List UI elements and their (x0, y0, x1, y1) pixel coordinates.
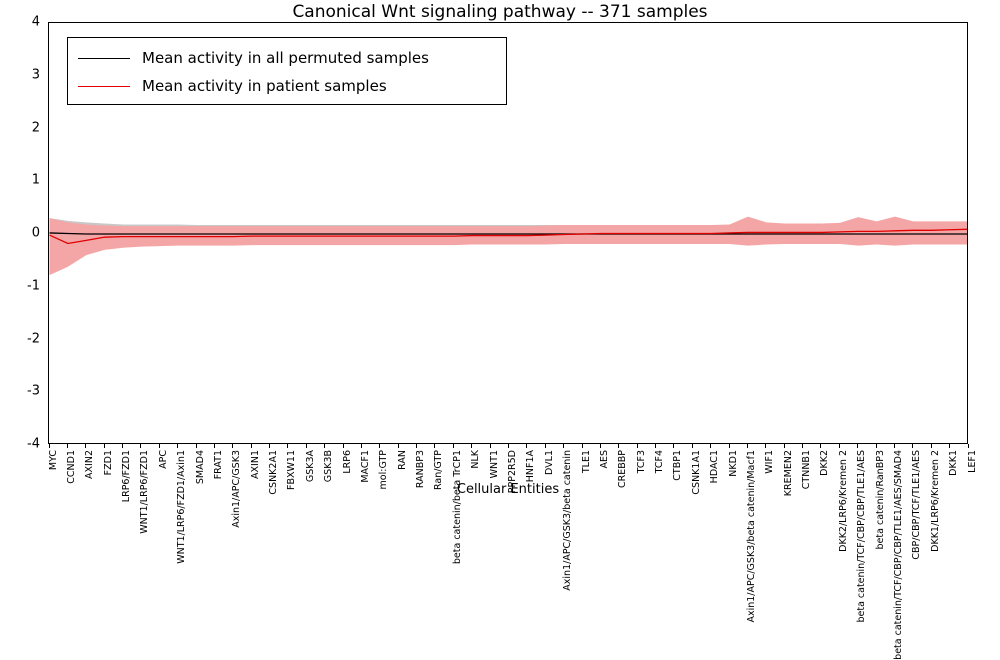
y-tick-label: -2 (27, 331, 40, 346)
x-tick-mark (710, 444, 711, 448)
legend: Mean activity in all permuted samples Me… (67, 37, 507, 105)
x-tick-mark (416, 444, 417, 448)
legend-line-patient-icon (78, 86, 130, 87)
x-tick-label: LRP6 (343, 450, 352, 474)
x-tick-mark (949, 444, 950, 448)
x-tick-mark (563, 444, 564, 448)
x-tick-label: MACF1 (361, 450, 370, 483)
x-tick-mark (379, 444, 380, 448)
x-tick-label: GSK3A (306, 450, 315, 482)
x-tick-mark (104, 444, 105, 448)
x-tick-mark (232, 444, 233, 448)
x-tick-mark (398, 444, 399, 448)
x-tick-mark (67, 444, 68, 448)
x-tick-label: NLK (471, 450, 480, 469)
x-tick-mark (306, 444, 307, 448)
x-tick-label: HNF1A (526, 450, 535, 482)
x-tick-label: HDAC1 (710, 450, 719, 483)
legend-label-patient: Mean activity in patient samples (142, 77, 387, 95)
x-tick-mark (637, 444, 638, 448)
legend-item-permuted: Mean activity in all permuted samples (78, 44, 496, 72)
x-tick-mark (471, 444, 472, 448)
x-tick-label: APC (159, 450, 168, 469)
x-tick-mark (765, 444, 766, 448)
x-tick-mark (453, 444, 454, 448)
x-tick-label: MYC (49, 450, 58, 470)
x-tick-label: WNT1 (490, 450, 499, 478)
plot-area: Mean activity in all permuted samples Me… (48, 22, 968, 444)
chart-figure: Canonical Wnt signaling pathway -- 371 s… (0, 0, 1000, 500)
x-tick-mark (196, 444, 197, 448)
x-tick-label: CCND1 (67, 450, 76, 484)
x-tick-mark (931, 444, 932, 448)
x-tick-mark (361, 444, 362, 448)
x-tick-label: WNT1/LRP6/FZD1 (140, 450, 149, 534)
x-tick-label: CTBP1 (673, 450, 682, 481)
x-tick-mark (140, 444, 141, 448)
x-tick-label: CBP/CBP/TCF/TLE1/AES (912, 450, 921, 560)
x-tick-label: FBXW11 (287, 450, 296, 490)
x-tick-mark (839, 444, 840, 448)
x-tick-mark (287, 444, 288, 448)
x-tick-mark (802, 444, 803, 448)
x-tick-label: PPP2R5D (508, 450, 517, 493)
x-tick-mark (490, 444, 491, 448)
y-tick-label: -1 (27, 278, 40, 293)
x-tick-label: DVL1 (545, 450, 554, 475)
x-tick-label: Ran/GTP (434, 450, 443, 490)
x-tick-label: DKK1 (949, 450, 958, 476)
x-tick-label: KREMEN2 (784, 450, 793, 496)
x-tick-mark (784, 444, 785, 448)
x-tick-mark (968, 444, 969, 448)
x-tick-mark (655, 444, 656, 448)
x-tick-label: beta catenin/TCF/CBP/CBP/TLE1/AES/SMAD4 (894, 450, 903, 660)
x-tick-mark (747, 444, 748, 448)
x-tick-label: Axin1/APC/GSK3/beta catenin (563, 450, 572, 591)
x-tick-mark (894, 444, 895, 448)
x-tick-mark (729, 444, 730, 448)
x-tick-mark (177, 444, 178, 448)
x-tick-mark (122, 444, 123, 448)
x-tick-label: CREBBP (618, 450, 627, 488)
chart-title: Canonical Wnt signaling pathway -- 371 s… (0, 2, 1000, 22)
x-tick-mark (857, 444, 858, 448)
x-axis-ticks: MYCCCND1AXIN2FZD1LRP6/FZD1WNT1/LRP6/FZD1… (48, 444, 968, 500)
legend-line-permuted-icon (78, 58, 130, 59)
x-tick-mark (508, 444, 509, 448)
x-tick-mark (159, 444, 160, 448)
x-tick-label: GSK3B (324, 450, 333, 482)
y-tick-label: -4 (27, 437, 40, 452)
x-tick-label: NKD1 (729, 450, 738, 477)
x-tick-mark (692, 444, 693, 448)
x-tick-label: CTNNB1 (802, 450, 811, 489)
x-tick-mark (324, 444, 325, 448)
x-tick-label: AXIN1 (251, 450, 260, 479)
x-tick-label: TLE1 (582, 450, 591, 473)
x-tick-mark (434, 444, 435, 448)
x-tick-label: mol:GTP (379, 450, 388, 489)
x-tick-mark (582, 444, 583, 448)
y-axis-ticks: -4-3-2-101234 (0, 22, 46, 444)
x-tick-label: AXIN2 (85, 450, 94, 479)
x-tick-label: DKK2 (820, 450, 829, 476)
legend-item-patient: Mean activity in patient samples (78, 72, 496, 100)
x-tick-label: TCF3 (637, 450, 646, 473)
x-tick-label: beta catenin/beta TrCP1 (453, 450, 462, 564)
x-tick-label: TCF4 (655, 450, 664, 473)
x-tick-label: LEF1 (968, 450, 977, 473)
y-tick-label: 3 (32, 67, 40, 82)
x-tick-mark (545, 444, 546, 448)
x-tick-mark (673, 444, 674, 448)
x-tick-mark (618, 444, 619, 448)
x-tick-label: LRP6/FZD1 (122, 450, 131, 502)
x-tick-label: beta catenin/TCF/CBP/CBP/TLE1/AES (857, 450, 866, 623)
x-tick-label: FRAT1 (214, 450, 223, 479)
x-tick-label: SMAD4 (196, 450, 205, 484)
x-tick-label: Axin1/APC/GSK3/beta catenin/Macf1 (747, 450, 756, 623)
legend-label-permuted: Mean activity in all permuted samples (142, 49, 429, 67)
x-tick-label: DKK2/LRP6/Kremen 2 (839, 450, 848, 552)
x-tick-mark (343, 444, 344, 448)
x-tick-mark (251, 444, 252, 448)
x-tick-mark (526, 444, 527, 448)
x-tick-mark (820, 444, 821, 448)
y-tick-label: 0 (32, 226, 40, 241)
x-tick-label: RANBP3 (416, 450, 425, 488)
x-tick-label: WIF1 (765, 450, 774, 474)
x-tick-mark (912, 444, 913, 448)
x-tick-label: DKK1/LRP6/Kremen 2 (931, 450, 940, 552)
y-tick-label: 2 (32, 120, 40, 135)
x-tick-label: CSNK1A1 (692, 450, 701, 495)
x-tick-mark (876, 444, 877, 448)
x-tick-label: WNT1/LRP6/FZD1/Axin1 (177, 450, 186, 564)
x-tick-label: AES (600, 450, 609, 469)
x-tick-label: CSNK2A1 (269, 450, 278, 495)
y-tick-label: 4 (32, 15, 40, 30)
y-tick-label: -3 (27, 384, 40, 399)
y-tick-label: 1 (32, 173, 40, 188)
x-tick-label: FZD1 (104, 450, 113, 475)
x-tick-mark (214, 444, 215, 448)
x-tick-mark (49, 444, 50, 448)
x-tick-label: RAN (398, 450, 407, 470)
x-tick-label: Axin1/APC/GSK3 (232, 450, 241, 528)
x-tick-mark (85, 444, 86, 448)
x-tick-mark (600, 444, 601, 448)
x-tick-mark (269, 444, 270, 448)
